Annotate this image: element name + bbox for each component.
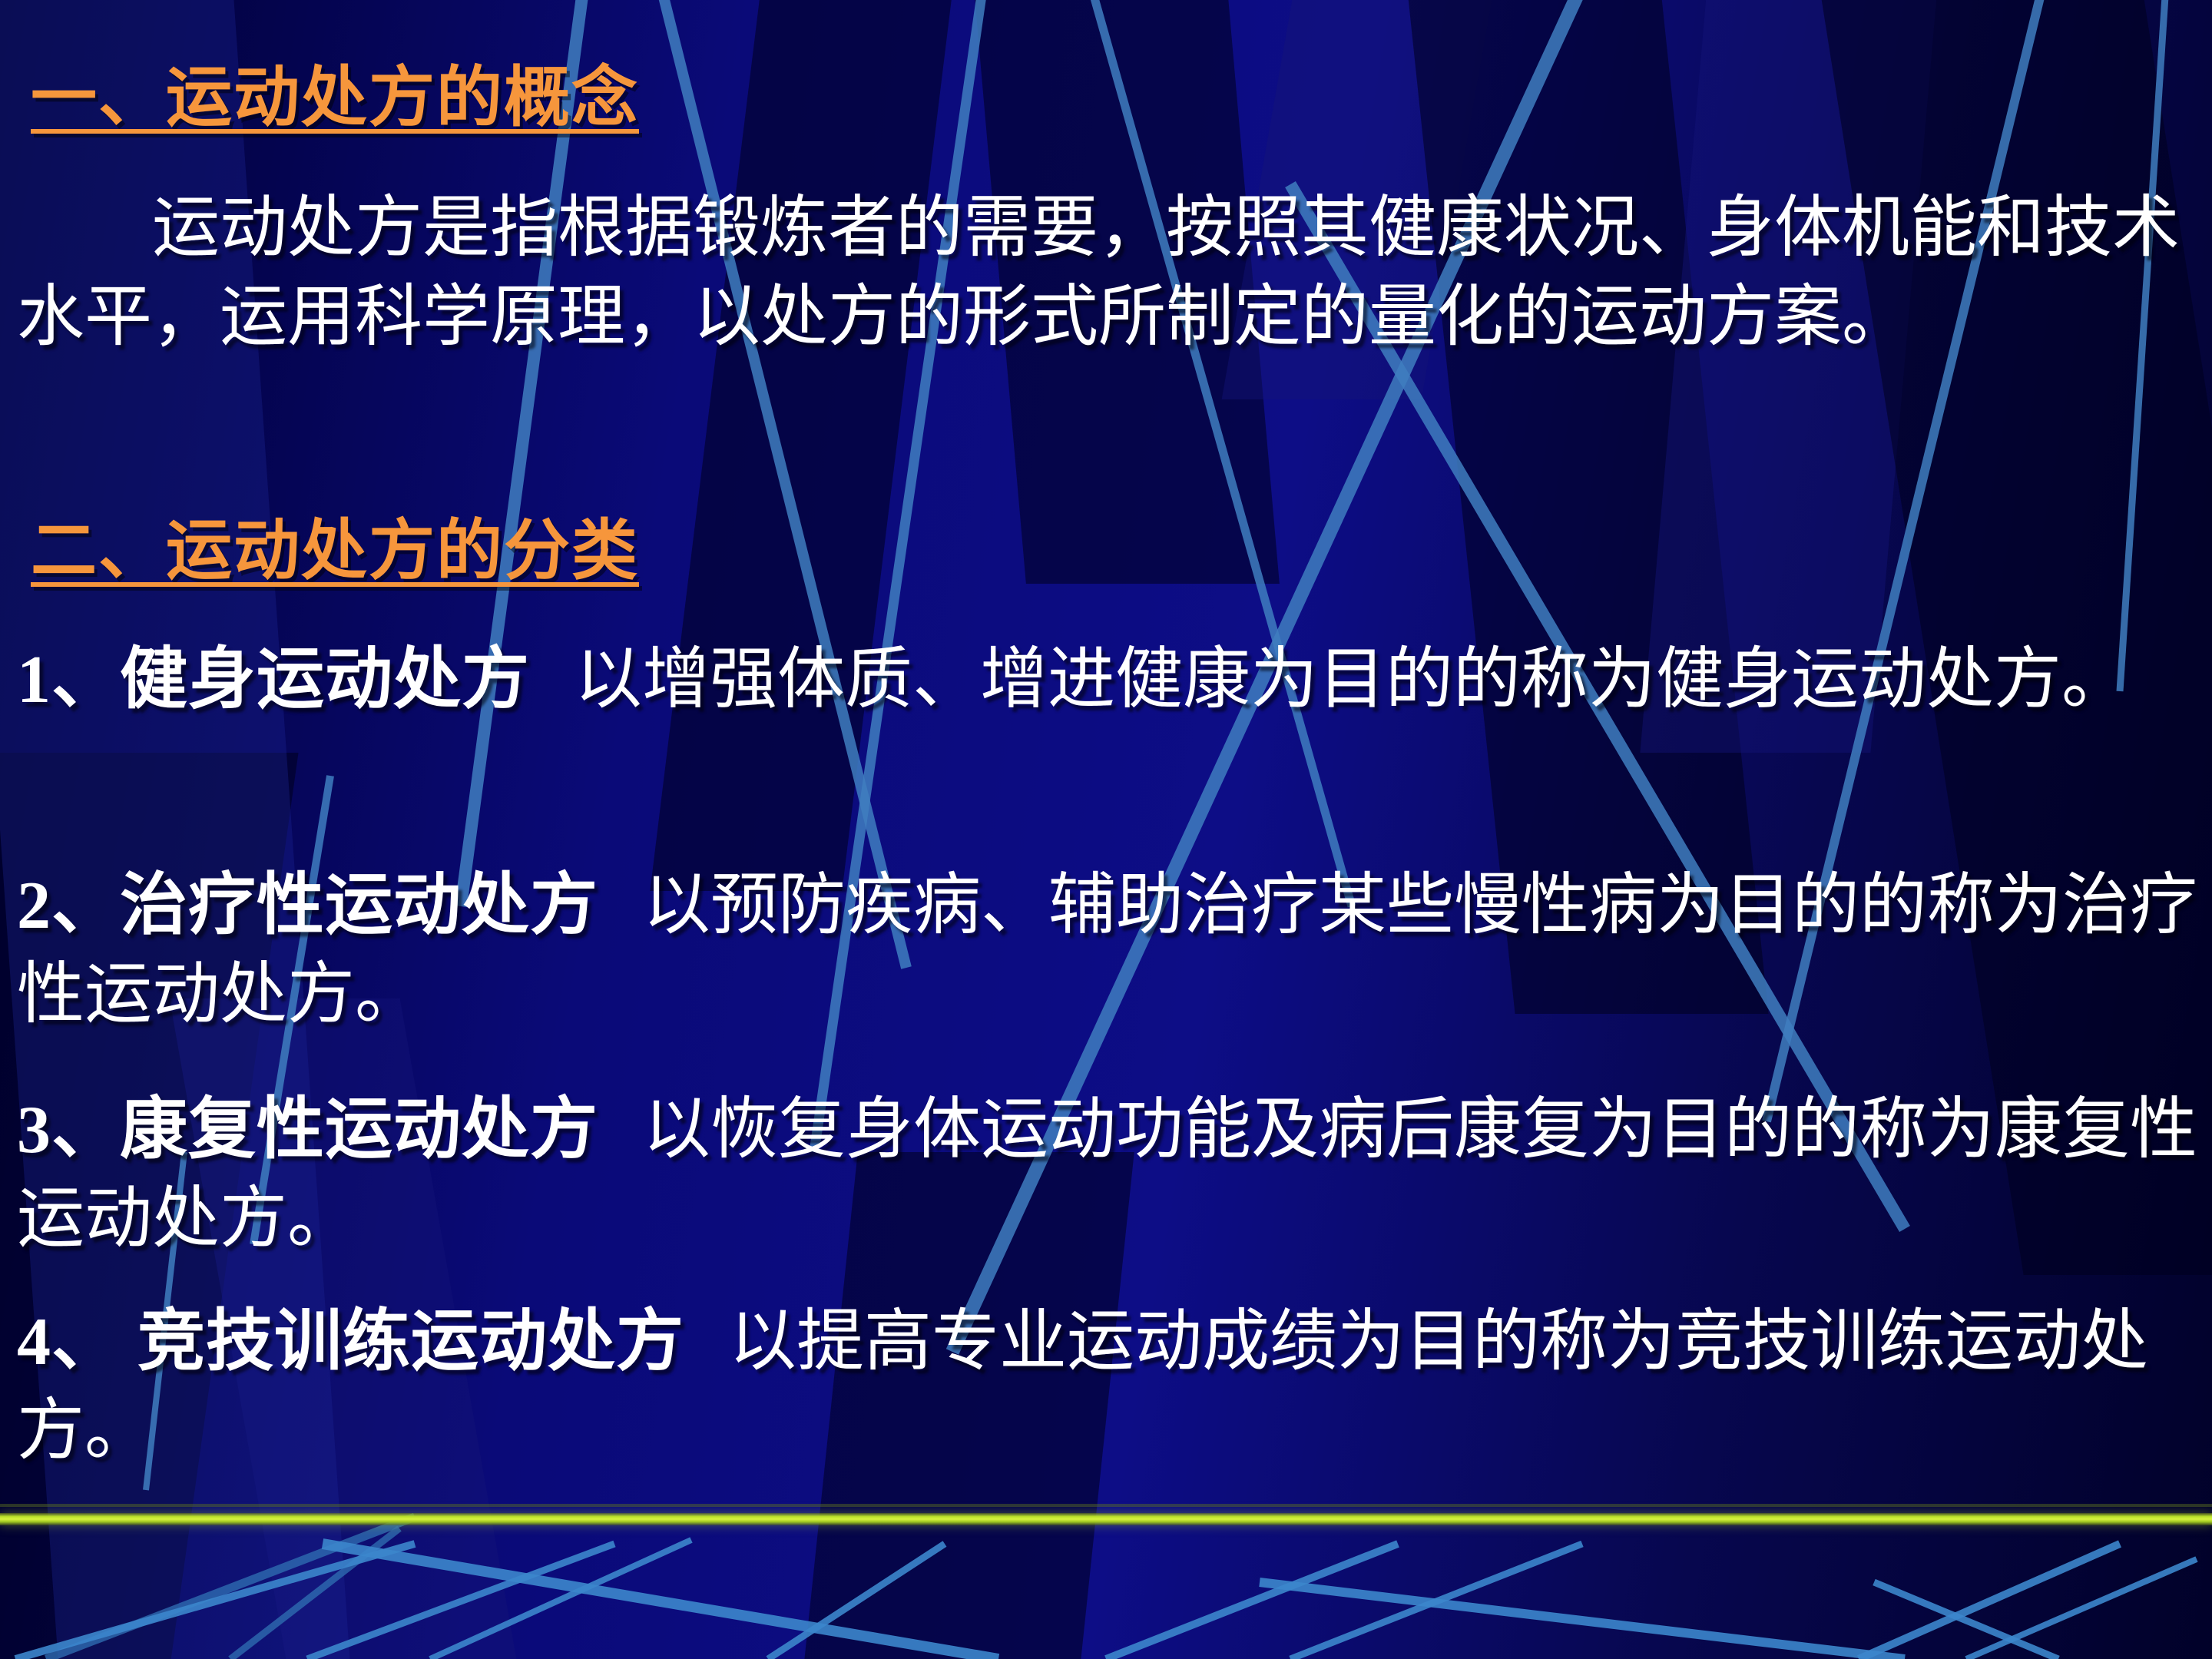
list-item: 2、治疗性运动处方以预防疾病、辅助治疗某些慢性病为目的的称为治疗性运动处方。	[17, 862, 2206, 1040]
list-item-lead: 4、 竞技训练运动处方	[17, 1305, 684, 1379]
section-heading-concept: 一、运动处方的概念	[31, 63, 639, 132]
list-item-body: 以增强体质、增进健康为目的的称为健身运动处方。	[575, 643, 2129, 717]
list-item-lead: 2、治疗性运动处方	[17, 869, 598, 943]
list-item-lead: 1、健身运动处方	[17, 643, 530, 717]
list-item: 4、 竞技训练运动处方以提高专业运动成绩为目的称为竞技训练运动处方。	[17, 1298, 2206, 1476]
list-item: 1、健身运动处方以增强体质、增进健康为目的的称为健身运动处方。	[17, 636, 2206, 725]
slide-content: 一、运动处方的概念 运动处方是指根据锻炼者的需要，按照其健康状况、身体机能和技术…	[0, 0, 2212, 1659]
list-item-lead: 3、康复性运动处方	[17, 1093, 598, 1167]
presentation-slide: 一、运动处方的概念 运动处方是指根据锻炼者的需要，按照其健康状况、身体机能和技术…	[0, 0, 2212, 1659]
list-item: 3、康复性运动处方以恢复身体运动功能及病后康复为目的的称为康复性运动处方。	[17, 1086, 2206, 1264]
section-heading-classification: 二、运动处方的分类	[31, 516, 639, 585]
definition-paragraph: 运动处方是指根据锻炼者的需要，按照其健康状况、身体机能和技术水平，运用科学原理，…	[17, 184, 2198, 363]
